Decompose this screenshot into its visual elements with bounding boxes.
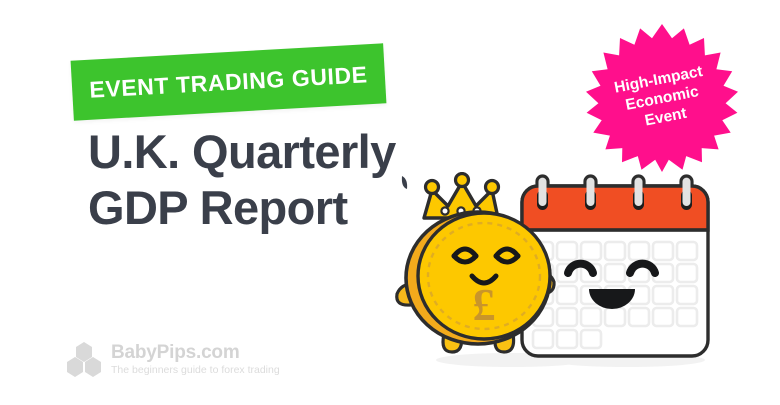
calendar-header bbox=[522, 186, 708, 230]
sparkle-mark-icon bbox=[402, 176, 407, 189]
poster-canvas: EVENT TRADING GUIDE U.K. Quarterly GDP R… bbox=[0, 0, 780, 405]
high-impact-badge: High-Impact Economic Event bbox=[578, 22, 746, 174]
ribbon-label: EVENT TRADING GUIDE bbox=[89, 61, 369, 104]
illustration-group: £ bbox=[392, 172, 722, 372]
logo-name: BabyPips.com bbox=[111, 342, 280, 363]
logo-text-block: BabyPips.com The beginners guide to fore… bbox=[111, 342, 280, 377]
logo-tagline: The beginners guide to forex trading bbox=[111, 363, 280, 377]
babypips-hexagon-logo-icon bbox=[66, 340, 102, 378]
event-trading-guide-ribbon: EVENT TRADING GUIDE bbox=[71, 43, 387, 120]
babypips-logo[interactable]: BabyPips.com The beginners guide to fore… bbox=[66, 340, 280, 378]
pound-symbol: £ bbox=[473, 279, 496, 330]
starburst-shape-icon bbox=[578, 22, 746, 174]
